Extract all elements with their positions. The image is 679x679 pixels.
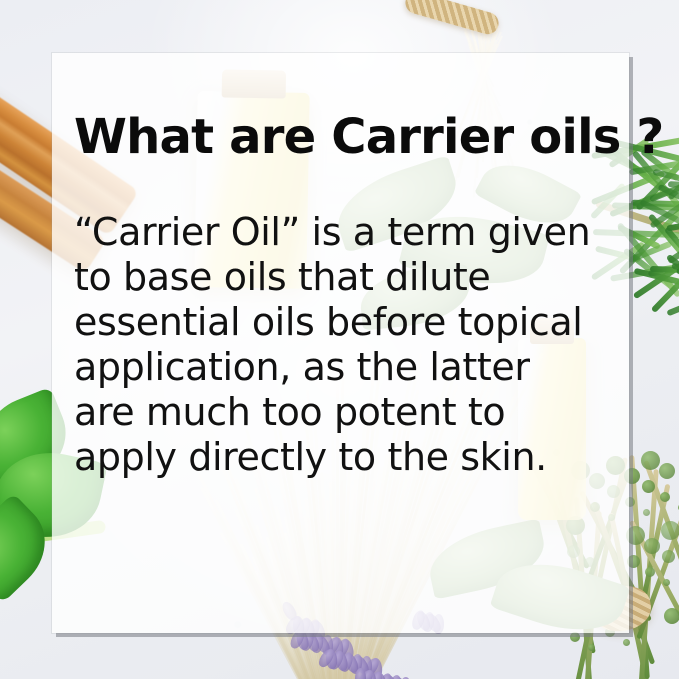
thyme-leaf [642, 480, 655, 493]
infographic-image: What are Carrier oils ? “Carrier Oil” is… [0, 0, 679, 679]
thyme-leaf [644, 538, 660, 554]
thyme-leaf [645, 567, 655, 577]
thyme-leaf [661, 521, 679, 540]
thyme-leaf [643, 509, 650, 516]
thyme-leaf [641, 451, 660, 470]
body-paragraph: “Carrier Oil” is a term given to base oi… [74, 162, 598, 480]
thyme-leaf [659, 463, 675, 479]
page-title: What are Carrier oils ? [74, 112, 602, 162]
thyme-leaf [660, 492, 670, 502]
thyme-leaf [663, 579, 670, 586]
twine-wrap-icon [403, 0, 501, 37]
thyme-leaf [662, 550, 675, 563]
text-block: What are Carrier oils ? “Carrier Oil” is… [74, 112, 602, 480]
thyme-leaf [664, 608, 679, 624]
